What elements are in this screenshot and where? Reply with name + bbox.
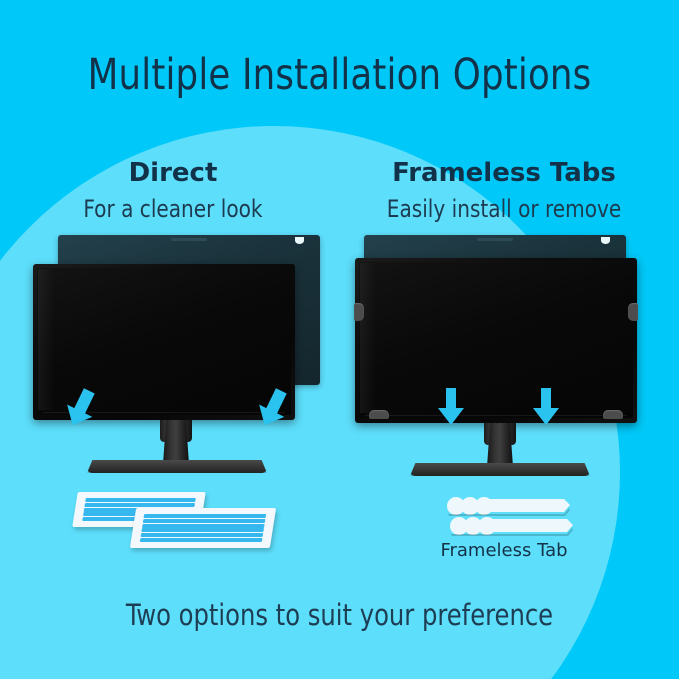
frameless-tab-nub-bottom-right: [603, 410, 623, 419]
frameless-tab-nub-bottom-left: [369, 410, 389, 419]
status-dot-icon: [601, 237, 610, 244]
panel-gloss-highlight: [38, 269, 54, 410]
page-title: Multiple Installation Options: [27, 50, 652, 100]
monitor-neck-direct: [163, 420, 189, 464]
webcam-icon: [477, 238, 513, 241]
frameless-tab-nub-left: [354, 303, 364, 321]
arrow-down-icon-direct-right: [252, 387, 294, 429]
privacy-panel-frameless: [355, 258, 637, 423]
adhesive-strip-sheet-2: [130, 508, 276, 548]
column-subheading-direct: For a cleaner look: [43, 195, 303, 223]
frameless-tab-caption: Frameless Tab: [364, 540, 644, 561]
panel-bottom-edge-line: [365, 415, 627, 416]
column-heading-frameless-tabs: Frameless Tabs: [364, 158, 644, 188]
arrow-down-icon-direct-left: [60, 387, 102, 429]
frameless-tab-icon-2: [447, 516, 575, 536]
panel-screen-surface: [359, 262, 633, 418]
monitor-neck-frameless: [487, 423, 513, 467]
frameless-tab-icon-1: [444, 496, 572, 516]
footer-text: Two options to suit your preference: [24, 598, 655, 632]
infographic-canvas: Multiple Installation Options Direct For…: [0, 0, 679, 679]
adhesive-strip-rows: [140, 514, 266, 542]
monitor-base-frameless: [410, 463, 590, 476]
column-subheading-frameless-tabs: Easily install or remove: [374, 195, 634, 223]
arrow-down-icon-frameless-left: [436, 388, 466, 426]
status-dot-icon: [295, 237, 304, 244]
frameless-tab-nub-right: [628, 303, 638, 321]
monitor-base-direct: [87, 460, 267, 473]
arrow-down-icon-frameless-right: [531, 388, 561, 426]
column-heading-direct: Direct: [33, 158, 313, 188]
panel-gloss-highlight: [360, 263, 376, 413]
webcam-icon: [171, 238, 207, 241]
